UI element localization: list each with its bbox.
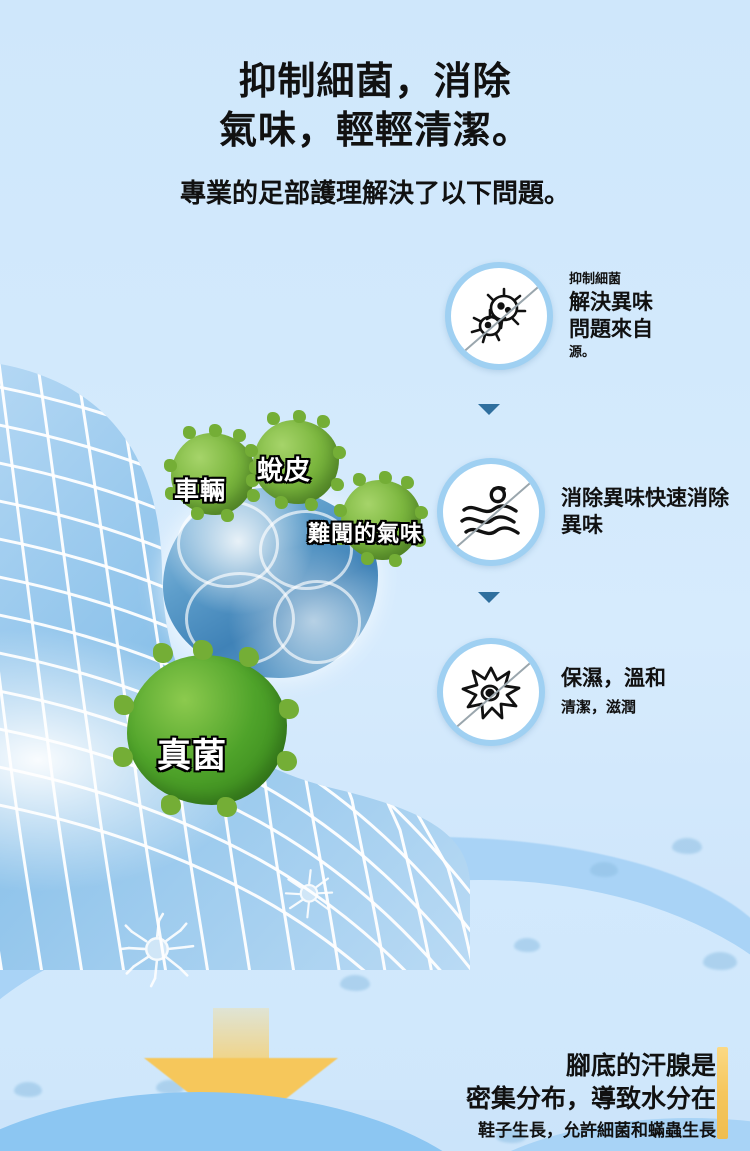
feature-big-line-2: 異味 xyxy=(561,512,729,539)
headline-line-2: 氣味，輕輕清潔。 xyxy=(0,107,750,156)
feature-item-deodorize[interactable]: 消除異味快速消除 異味 xyxy=(437,458,729,566)
feature-small-label: 抑制細菌 xyxy=(569,270,653,289)
mite-no-icon xyxy=(437,638,545,746)
bottom-wave-left xyxy=(0,1092,520,1151)
flow-arrow-icon xyxy=(478,592,500,603)
germ-label-vehicle: 車輛 xyxy=(174,471,226,507)
bottom-copy-block: 腳底的汗腺是 密集分布，導致水分在 鞋子生長，允許細菌和蟎蟲生長 xyxy=(466,1050,716,1144)
headline-line-1: 抑制細菌，消除 xyxy=(0,58,750,107)
bottom-line-1: 腳底的汗腺是 xyxy=(466,1050,716,1083)
feature-big-line-2: 問題來自 xyxy=(569,316,653,343)
headline-block: 抑制細菌，消除 氣味，輕輕清潔。 專業的足部護理解決了以下問題。 xyxy=(0,58,750,210)
flow-arrow-icon xyxy=(478,404,500,415)
decor-blob xyxy=(590,862,618,877)
odor-waves-no-icon xyxy=(437,458,545,566)
yellow-accent-bar xyxy=(717,1047,728,1139)
headline-subtitle: 專業的足部護理解決了以下問題。 xyxy=(0,173,750,210)
germ-label-bad-odor: 難聞的氣味 xyxy=(308,516,423,548)
bottom-line-3: 鞋子生長，允許細菌和蟎蟲生長 xyxy=(466,1118,716,1144)
poster-root: 車輛 蛻皮 難聞的氣味 真菌 抑制細菌，消除 氣味，輕輕清潔。 專業的足部護理解… xyxy=(0,0,750,1151)
decor-blob xyxy=(514,938,540,952)
decor-blob xyxy=(14,1082,42,1097)
bacteria-no-icon xyxy=(445,262,553,370)
bottom-line-2: 密集分布，導致水分在 xyxy=(466,1083,716,1116)
feature-item-moisturize[interactable]: 保濕，溫和 清潔，滋潤 xyxy=(437,638,666,746)
mite-doodle-icon xyxy=(118,912,196,990)
mite-doodle-icon xyxy=(276,862,342,928)
feature-small-label: 清潔，滋潤 xyxy=(561,697,666,719)
feature-text-block: 抑制細菌 解決異味 問題來自 源。 xyxy=(569,270,653,362)
decor-blob xyxy=(340,975,370,991)
feature-tail-text: 源。 xyxy=(569,343,653,362)
feature-text-block: 消除異味快速消除 異味 xyxy=(561,485,729,540)
feature-item-antibacterial[interactable]: 抑制細菌 解決異味 問題來自 源。 xyxy=(445,262,653,370)
feature-text-block: 保濕，溫和 清潔，滋潤 xyxy=(561,665,666,718)
decor-blob xyxy=(703,952,737,970)
germ-label-shedding: 蛻皮 xyxy=(257,450,311,487)
germ-label-fungus: 真菌 xyxy=(157,728,227,777)
feature-big-line-1: 消除異味快速消除 xyxy=(561,485,729,512)
feature-big-line-1: 解決異味 xyxy=(569,289,653,316)
feature-big-line-1: 保濕，溫和 xyxy=(561,665,666,692)
decor-blob xyxy=(672,838,702,854)
